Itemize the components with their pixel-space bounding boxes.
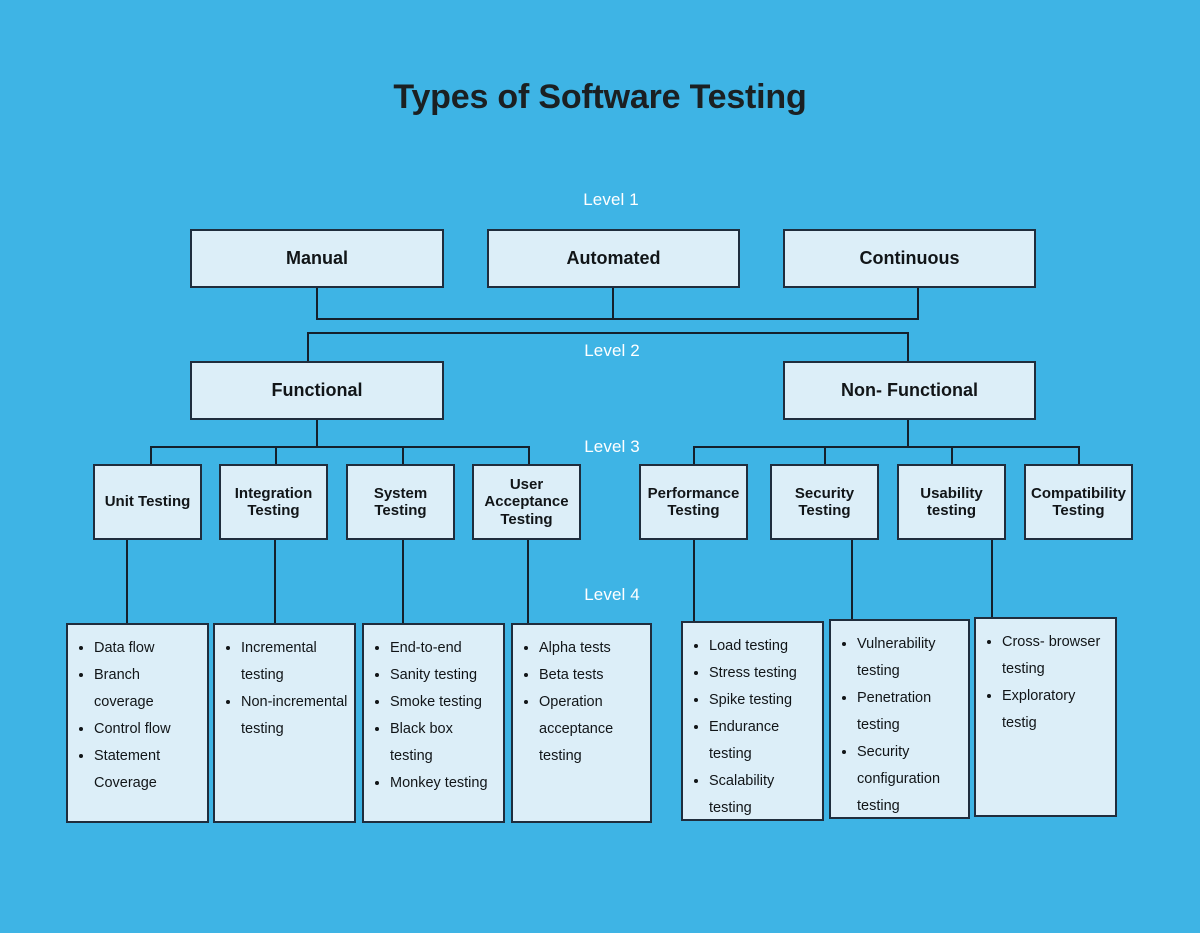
list-item: Sanity testing: [390, 662, 497, 689]
node-compatibility-testing-label: Compatibility Testing: [1030, 485, 1127, 520]
node-continuous[interactable]: Continuous: [783, 229, 1036, 288]
list-item: Beta tests: [539, 662, 644, 689]
connector-unit-drop: [150, 446, 152, 464]
connector-nonfunctional-bus: [693, 446, 1080, 448]
node-unit-testing[interactable]: Unit Testing: [93, 464, 202, 540]
node-non-functional[interactable]: Non- Functional: [783, 361, 1036, 420]
connector-automated-down: [612, 288, 614, 320]
leaf-list-user-acceptance-testing: Alpha tests Beta tests Operation accepta…: [517, 635, 644, 770]
list-item: End-to-end: [390, 635, 497, 662]
list-item: Alpha tests: [539, 635, 644, 662]
list-item: Scalability testing: [709, 768, 816, 822]
node-security-testing[interactable]: Security Testing: [770, 464, 879, 540]
node-manual[interactable]: Manual: [190, 229, 444, 288]
connector-performance-drop: [693, 446, 695, 464]
connector-usability-drop: [951, 446, 953, 464]
connector-level2-bus: [307, 332, 909, 334]
connector-functional-bus: [150, 446, 530, 448]
connector-compatibility-drop: [1078, 446, 1080, 464]
leafbox-unit-testing[interactable]: Data flow Branch coverage Control flow S…: [66, 623, 209, 823]
list-item: Spike testing: [709, 687, 816, 714]
list-item: Monkey testing: [390, 770, 497, 797]
list-item: Incremental testing: [241, 635, 348, 689]
connector-integration-drop: [275, 446, 277, 464]
list-item: Smoke testing: [390, 689, 497, 716]
leafbox-user-acceptance-testing[interactable]: Alpha tests Beta tests Operation accepta…: [511, 623, 652, 823]
list-item: Penetration testing: [857, 685, 962, 739]
leaf-list-security-testing: Vulnerability testing Penetration testin…: [835, 631, 962, 820]
leaf-list-performance-testing: Load testing Stress testing Spike testin…: [687, 633, 816, 822]
level-1-label: Level 1: [541, 190, 681, 210]
node-manual-label: Manual: [286, 248, 348, 269]
connector-functional-stem: [316, 420, 318, 448]
diagram-canvas: Types of Software Testing Level 1 Level …: [0, 0, 1200, 933]
list-item: Statement Coverage: [94, 743, 201, 797]
node-system-testing[interactable]: System Testing: [346, 464, 455, 540]
connector-nonfunctional-stem: [907, 420, 909, 448]
node-integration-testing[interactable]: Integration Testing: [219, 464, 328, 540]
list-item: Stress testing: [709, 660, 816, 687]
connector-integration-to-leaf: [274, 540, 276, 625]
node-usability-testing-label: Usability testing: [903, 485, 1000, 520]
leaf-list-system-testing: End-to-end Sanity testing Smoke testing …: [368, 635, 497, 797]
leafbox-performance-testing[interactable]: Load testing Stress testing Spike testin…: [681, 621, 824, 821]
level-4-label: Level 4: [542, 585, 682, 605]
node-functional[interactable]: Functional: [190, 361, 444, 420]
list-item: Vulnerability testing: [857, 631, 962, 685]
list-item: Black box testing: [390, 716, 497, 770]
list-item: Non-incremental testing: [241, 689, 348, 743]
node-automated[interactable]: Automated: [487, 229, 740, 288]
node-unit-testing-label: Unit Testing: [105, 493, 191, 510]
connector-uat-to-leaf: [527, 540, 529, 625]
connector-system-to-leaf: [402, 540, 404, 625]
list-item: Cross- browser testing: [1002, 629, 1109, 683]
connector-nonfunctional-down: [907, 332, 909, 361]
connector-uat-drop: [528, 446, 530, 464]
leaf-list-usability-testing: Cross- browser testing Exploratory testi…: [980, 629, 1109, 737]
connector-functional-down: [307, 332, 309, 361]
connector-performance-to-leaf: [693, 540, 695, 623]
list-item: Exploratory testig: [1002, 683, 1109, 737]
leafbox-usability-testing[interactable]: Cross- browser testing Exploratory testi…: [974, 617, 1117, 817]
connector-continuous-down: [917, 288, 919, 320]
node-non-functional-label: Non- Functional: [841, 380, 978, 401]
leafbox-integration-testing[interactable]: Incremental testing Non-incremental test…: [213, 623, 356, 823]
list-item: Security configuration testing: [857, 739, 962, 820]
connector-manual-down: [316, 288, 318, 320]
list-item: Data flow: [94, 635, 201, 662]
connector-security-drop: [824, 446, 826, 464]
connector-usability-to-leaf: [991, 540, 993, 619]
node-user-acceptance-testing[interactable]: User Acceptance Testing: [472, 464, 581, 540]
node-system-testing-label: System Testing: [352, 485, 449, 520]
node-compatibility-testing[interactable]: Compatibility Testing: [1024, 464, 1133, 540]
node-usability-testing[interactable]: Usability testing: [897, 464, 1006, 540]
node-integration-testing-label: Integration Testing: [225, 485, 322, 520]
leafbox-system-testing[interactable]: End-to-end Sanity testing Smoke testing …: [362, 623, 505, 823]
node-user-acceptance-testing-label: User Acceptance Testing: [478, 476, 575, 528]
page-title: Types of Software Testing: [0, 78, 1200, 117]
list-item: Load testing: [709, 633, 816, 660]
leafbox-security-testing[interactable]: Vulnerability testing Penetration testin…: [829, 619, 970, 819]
node-automated-label: Automated: [567, 248, 661, 269]
level-2-label: Level 2: [542, 341, 682, 361]
node-security-testing-label: Security Testing: [776, 485, 873, 520]
node-functional-label: Functional: [272, 380, 363, 401]
list-item: Control flow: [94, 716, 201, 743]
node-performance-testing[interactable]: Performance Testing: [639, 464, 748, 540]
level-3-label: Level 3: [542, 437, 682, 457]
list-item: Endurance testing: [709, 714, 816, 768]
node-performance-testing-label: Performance Testing: [645, 485, 742, 520]
leaf-list-integration-testing: Incremental testing Non-incremental test…: [219, 635, 348, 743]
list-item: Branch coverage: [94, 662, 201, 716]
connector-unit-to-leaf: [126, 540, 128, 625]
connector-system-drop: [402, 446, 404, 464]
node-continuous-label: Continuous: [860, 248, 960, 269]
connector-security-to-leaf: [851, 540, 853, 621]
leaf-list-unit-testing: Data flow Branch coverage Control flow S…: [72, 635, 201, 797]
list-item: Operation acceptance testing: [539, 689, 644, 770]
connector-level1-bus: [316, 318, 919, 320]
